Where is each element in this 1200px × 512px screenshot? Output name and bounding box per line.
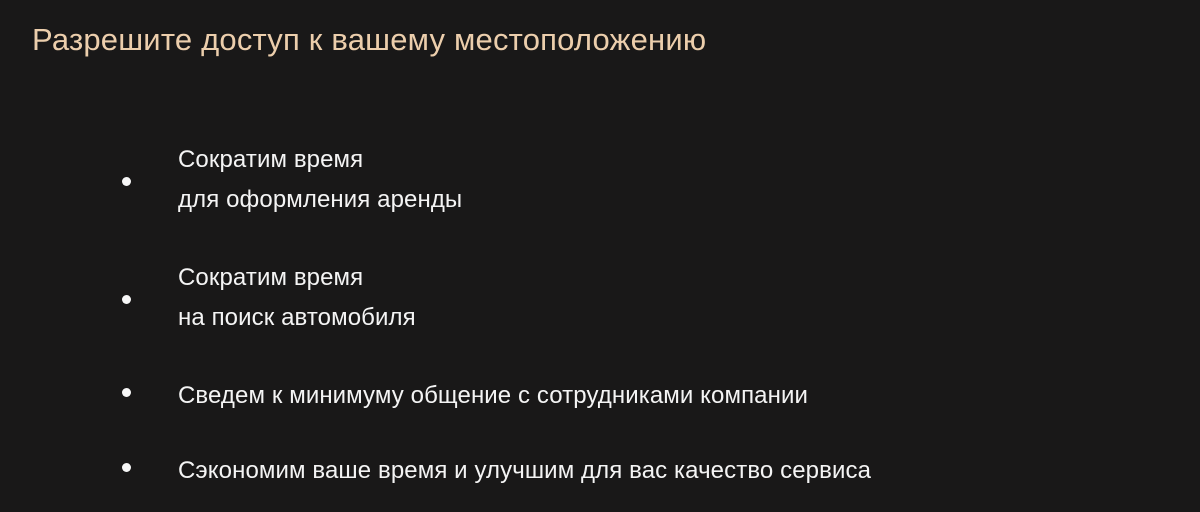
list-item-line: для оформления аренды [178, 180, 1200, 220]
list-item: Сэкономим ваше время и улучшим для вас к… [0, 451, 1200, 491]
list-item-line: на поиск автомобиля [178, 298, 1200, 338]
list-item: Сведем к минимуму общение с сотрудниками… [0, 376, 1200, 416]
list-item-line: Сэкономим ваше время и улучшим для вас к… [178, 451, 1200, 491]
presentation-slide: Разрешите доступ к вашему местоположению… [0, 0, 1200, 512]
filled-circle-bullet-icon [122, 388, 131, 397]
list-item-line: Сократим время [178, 258, 1200, 298]
list-item-line: Сократим время [178, 140, 1200, 180]
list-item: Сократим время на поиск автомобиля [0, 258, 1200, 338]
list-item: Сократим время для оформления аренды [0, 140, 1200, 220]
filled-circle-bullet-icon [122, 463, 131, 472]
page-title: Разрешите доступ к вашему местоположению [32, 19, 706, 61]
filled-circle-bullet-icon [122, 177, 131, 186]
benefits-bullet-list: Сократим время для оформления аренды Сок… [0, 140, 1200, 491]
filled-circle-bullet-icon [122, 295, 131, 304]
list-item-line: Сведем к минимуму общение с сотрудниками… [178, 376, 1200, 416]
